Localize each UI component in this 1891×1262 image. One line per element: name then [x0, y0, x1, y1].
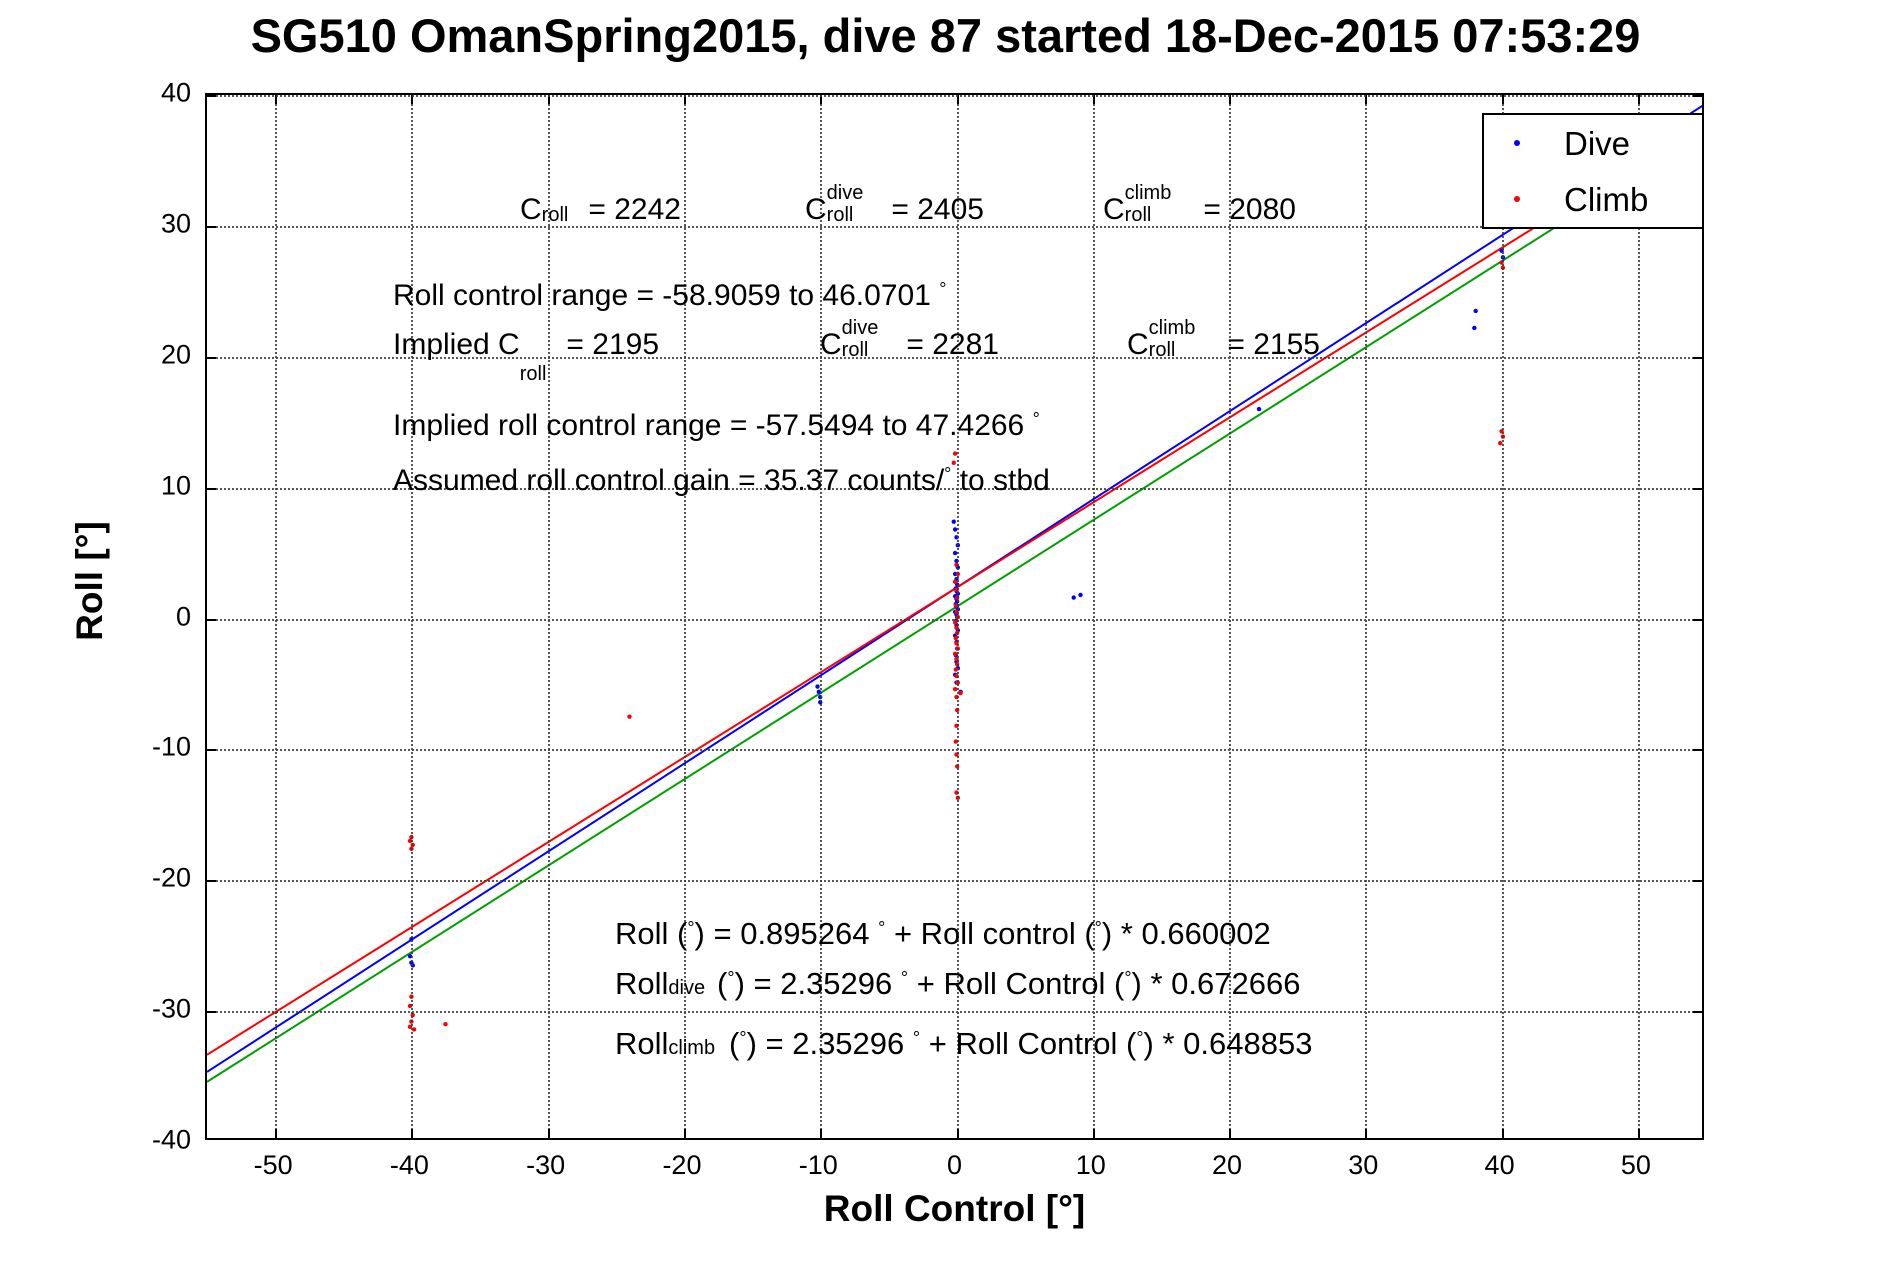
grid-line-vertical — [1502, 95, 1504, 1138]
annotation-roll-control-range: Roll control range = -58.9059 to 46.0701… — [393, 280, 946, 311]
x-axis-tick — [1638, 1129, 1640, 1138]
c-dive-value: = 2405 — [891, 193, 984, 226]
data-point — [1257, 407, 1261, 411]
y-axis-tick-label: -20 — [103, 863, 191, 894]
legend: Dive Climb — [1482, 113, 1704, 229]
c-dive-symbol: Cdiveroll — [805, 195, 827, 225]
figure-root: SG510 OmanSpring2015, dive 87 started 18… — [0, 0, 1891, 1262]
data-point — [1472, 326, 1476, 330]
x-axis-tick — [684, 1129, 686, 1138]
degree-icon: ° — [727, 968, 734, 988]
data-point — [627, 714, 631, 718]
degree-icon: ° — [1033, 409, 1040, 429]
degree-icon: ° — [1124, 968, 1131, 988]
y-axis-tick-label: 20 — [103, 339, 191, 370]
assumed-gain-text-b: to stbd — [960, 464, 1050, 497]
x-axis-tick-label: 30 — [1348, 1150, 1378, 1181]
degree-icon: ° — [1095, 918, 1102, 938]
climb-marker-icon — [1514, 196, 1520, 202]
equation-roll-climb: Rollclimb (°) = 2.35296 ° + Roll Control… — [615, 1028, 1312, 1059]
degree-icon: ° — [913, 1028, 920, 1048]
c-roll-value: = 2242 — [588, 193, 681, 226]
annotation-implied-roll-control-range: Implied roll control range = -57.5494 to… — [393, 410, 1040, 441]
y-axis-tick-label: 30 — [103, 208, 191, 239]
assumed-gain-text-a: Assumed roll control gain = 35.37 counts… — [393, 464, 944, 497]
x-axis-tick — [411, 1129, 413, 1138]
degree-icon: ° — [739, 1028, 746, 1048]
roll-climb-symbol: Rollclimb — [615, 1028, 668, 1059]
y-axis-tick-label: -10 — [103, 732, 191, 763]
y-axis-tick — [1693, 488, 1702, 490]
degree-icon: ° — [687, 918, 694, 938]
grid-line-horizontal — [207, 1011, 1702, 1013]
roll-dive-symbol: Rolldive — [615, 968, 668, 999]
x-axis-tick — [548, 1129, 550, 1138]
x-axis-title: Roll Control [°] — [205, 1188, 1704, 1230]
legend-label-dive: Dive — [1564, 127, 1630, 160]
data-point — [1473, 309, 1477, 313]
x-axis-tick — [1093, 1129, 1095, 1138]
data-point — [1078, 593, 1082, 597]
implied-roll-control-range-text: Implied roll control range = -57.5494 to… — [393, 409, 1024, 442]
annotation-implied-c-dive: Cdiveroll = 2281 — [820, 330, 999, 360]
y-axis-tick — [207, 619, 216, 621]
c-climb-symbol: Cclimbroll — [1103, 195, 1125, 225]
equation-roll-dive: Rolldive (°) = 2.35296 ° + Roll Control … — [615, 968, 1300, 999]
degree-icon: ° — [939, 279, 946, 299]
implied-c-dive-symbol: Cdiveroll — [820, 330, 842, 360]
x-axis-tick-label: -30 — [526, 1150, 565, 1181]
y-axis-tick — [207, 488, 216, 490]
data-point — [815, 684, 819, 688]
data-point — [1071, 595, 1075, 599]
y-axis-tick-label: 10 — [103, 470, 191, 501]
grid-line-horizontal — [207, 95, 1702, 97]
grid-line-horizontal — [207, 619, 1702, 621]
implied-c-climb-value: = 2155 — [1227, 328, 1320, 361]
y-axis-tick-label: -40 — [103, 1125, 191, 1156]
y-axis-tick — [1693, 357, 1702, 359]
y-axis-tick-label: 0 — [103, 601, 191, 632]
x-axis-tick-label: 20 — [1212, 1150, 1242, 1181]
x-axis-tick-label: 0 — [947, 1150, 962, 1181]
y-axis-tick — [207, 1011, 216, 1013]
grid-line-horizontal — [207, 749, 1702, 751]
y-axis-tick-label: 40 — [103, 78, 191, 109]
annotation-c-roll: Croll = 2242 — [520, 195, 681, 225]
degree-icon: ° — [1136, 1028, 1143, 1048]
legend-item-dive: Dive — [1484, 115, 1702, 171]
grid-line-vertical — [1365, 95, 1367, 1138]
implied-c-climb-symbol: Cclimbroll — [1127, 330, 1149, 360]
x-axis-tick — [1229, 1129, 1231, 1138]
x-axis-tick — [275, 1129, 277, 1138]
grid-line-horizontal — [207, 226, 1702, 228]
implied-c-dive-value: = 2281 — [906, 328, 999, 361]
annotation-implied-c-climb: Cclimbroll = 2155 — [1127, 330, 1320, 360]
annotation-c-dive: Cdiveroll = 2405 — [805, 195, 984, 225]
grid-line-horizontal — [207, 880, 1702, 882]
legend-item-climb: Climb — [1484, 171, 1702, 227]
equation-roll-combined: Roll (°) = 0.895264 ° + Roll control (°)… — [615, 918, 1271, 949]
x-axis-tick-label: 50 — [1621, 1150, 1651, 1181]
x-axis-tick — [1502, 1129, 1504, 1138]
y-axis-tick — [207, 880, 216, 882]
y-axis-tick — [1693, 95, 1702, 97]
grid-line-vertical — [411, 95, 413, 1138]
annotation-implied-c-roll: Implied Croll = 2195 — [393, 330, 659, 360]
legend-label-climb: Climb — [1564, 183, 1648, 216]
x-axis-tick — [820, 1129, 822, 1138]
data-point — [958, 691, 962, 695]
grid-line-vertical — [275, 95, 277, 1138]
y-axis-tick — [207, 95, 216, 97]
annotation-assumed-gain: Assumed roll control gain = 35.37 counts… — [393, 465, 1050, 496]
y-axis-tick — [207, 749, 216, 751]
degree-icon: ° — [944, 464, 951, 484]
x-axis-tick-label: -50 — [254, 1150, 293, 1181]
roll-control-range-text: Roll control range = -58.9059 to 46.0701 — [393, 279, 931, 312]
data-point — [443, 1022, 447, 1026]
y-axis-tick — [1693, 619, 1702, 621]
c-climb-value: = 2080 — [1203, 193, 1296, 226]
y-axis-tick-label: -30 — [103, 994, 191, 1025]
page-title: SG510 OmanSpring2015, dive 87 started 18… — [0, 8, 1891, 63]
x-axis-tick-label: 40 — [1485, 1150, 1515, 1181]
dive-marker-icon — [1514, 140, 1520, 146]
data-point — [952, 519, 956, 523]
x-axis-tick-label: -10 — [799, 1150, 838, 1181]
x-axis-tick — [1365, 1129, 1367, 1138]
x-axis-tick-label: -20 — [662, 1150, 701, 1181]
y-axis-tick — [1693, 749, 1702, 751]
grid-line-vertical — [1638, 95, 1640, 1138]
x-axis-tick — [957, 1129, 959, 1138]
annotation-c-climb: Cclimbroll = 2080 — [1103, 195, 1296, 225]
y-axis-tick — [207, 357, 216, 359]
degree-icon: ° — [901, 968, 908, 988]
y-axis-tick — [1693, 1011, 1702, 1013]
c-roll-symbol: Croll — [520, 195, 542, 225]
x-axis-tick-label: 10 — [1076, 1150, 1106, 1181]
degree-icon: ° — [878, 918, 885, 938]
y-axis-tick — [1693, 880, 1702, 882]
implied-prefix: Implied C — [393, 328, 520, 361]
x-axis-tick-label: -40 — [390, 1150, 429, 1181]
grid-line-vertical — [548, 95, 550, 1138]
y-axis-tick — [207, 226, 216, 228]
implied-c-roll-value: = 2195 — [566, 328, 659, 361]
